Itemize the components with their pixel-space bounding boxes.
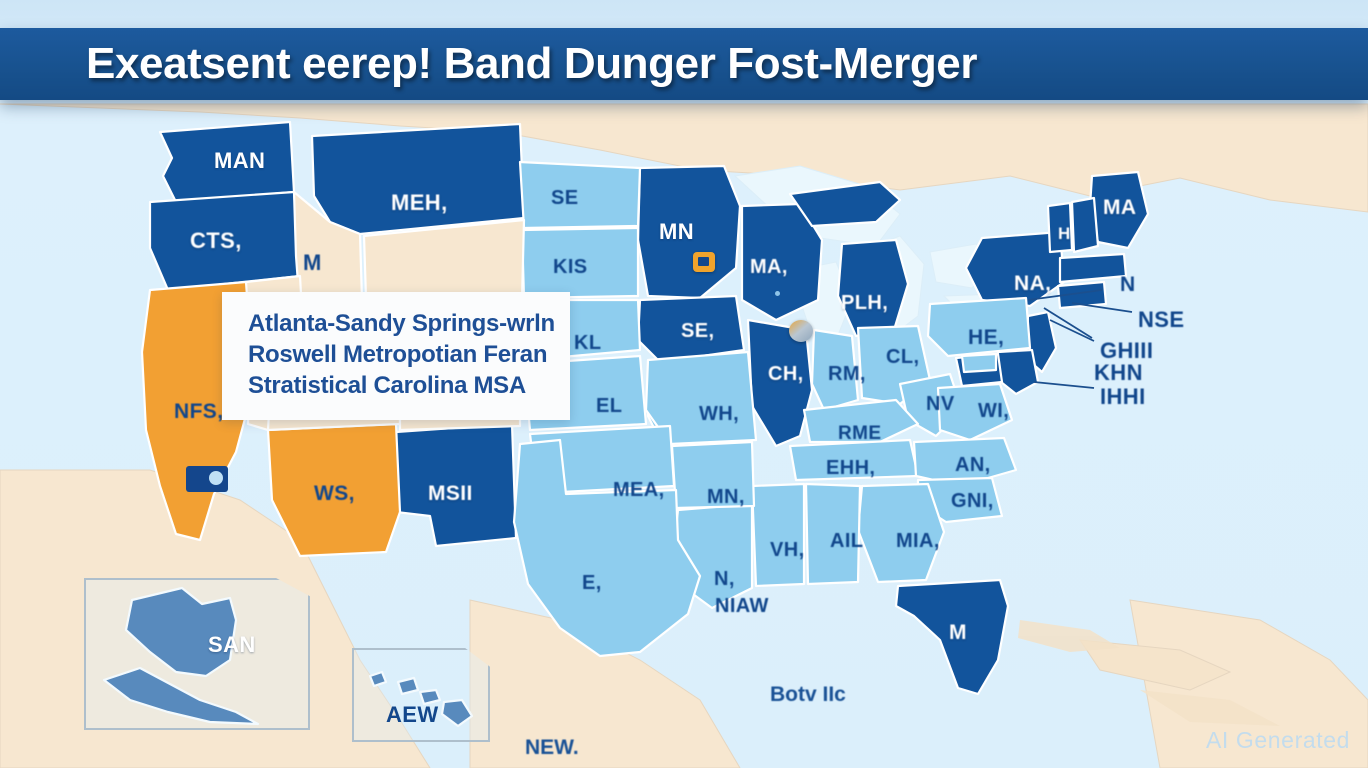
ocean-label-atlantic: Botv IIc [770, 683, 846, 707]
losangeles-marker[interactable] [186, 466, 228, 492]
ai-generated-watermark: AI Generated [1206, 727, 1350, 754]
tooltip-line-3: Stratistical Carolina MSA [248, 370, 548, 401]
wisconsin-dot[interactable] [775, 291, 780, 296]
page-title: Exeatsent eerep! Band Dunger Fost-Merger [0, 39, 977, 89]
chicago-marker[interactable] [789, 320, 813, 342]
ocean-label-mexico: NEW. [525, 736, 579, 760]
tooltip-line-1: Atlanta-Sandy Springs-wrln [248, 308, 548, 339]
hawaii-inset [352, 648, 490, 742]
minneapolis-marker[interactable] [693, 252, 715, 272]
metro-area-tooltip[interactable]: Atlanta-Sandy Springs-wrln Roswell Metro… [222, 292, 570, 420]
header-band: Exeatsent eerep! Band Dunger Fost-Merger [0, 28, 1368, 100]
map-canvas: Exeatsent eerep! Band Dunger Fost-Merger… [0, 0, 1368, 768]
tooltip-line-2: Roswell Metropotian Feran [248, 339, 548, 370]
alaska-inset [84, 578, 310, 730]
